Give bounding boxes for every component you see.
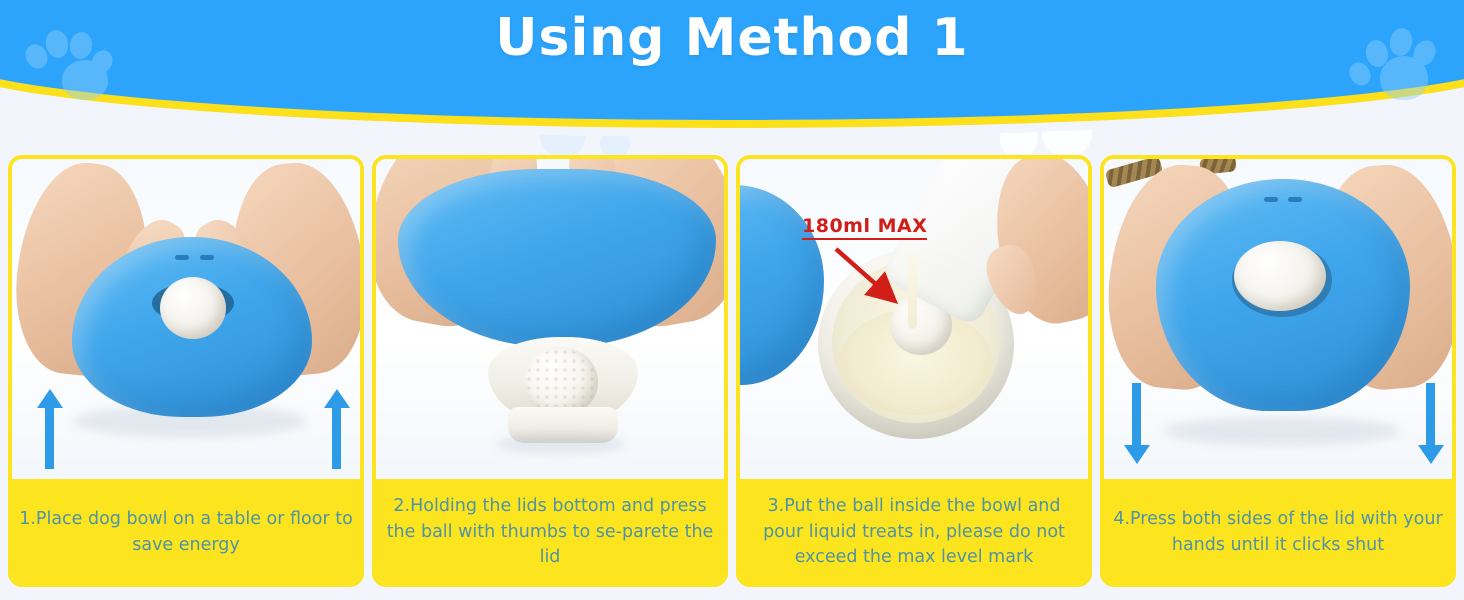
up-arrow-right xyxy=(332,407,341,469)
step-card-4: 4.Press both sides of the lid with your … xyxy=(1100,155,1456,587)
page-title: Using Method 1 xyxy=(0,8,1464,68)
down-arrow-left xyxy=(1132,383,1141,445)
white-ball xyxy=(160,277,226,339)
step-card-2: 2.Holding the lids bottom and press the … xyxy=(372,155,728,587)
step-caption-4: 4.Press both sides of the lid with your … xyxy=(1104,479,1452,583)
white-ball xyxy=(1234,241,1326,311)
steps-row: 1.Place dog bowl on a table or floor to … xyxy=(8,155,1456,587)
bowl-shadow xyxy=(1164,417,1400,445)
step-caption-3: 3.Put the ball inside the bowl and pour … xyxy=(740,479,1088,583)
vent-slot xyxy=(1264,197,1278,202)
down-arrow-left-head xyxy=(1124,445,1150,464)
step-photo-1 xyxy=(12,159,360,479)
down-arrow-right-head xyxy=(1418,445,1444,464)
vent-slot xyxy=(175,255,189,260)
base-shadow xyxy=(496,435,626,453)
max-level-annotation: 180ml MAX xyxy=(802,215,927,240)
step-card-1: 1.Place dog bowl on a table or floor to … xyxy=(8,155,364,587)
step-caption-2: 2.Holding the lids bottom and press the … xyxy=(376,479,724,583)
vent-slot xyxy=(1288,197,1302,202)
step-photo-4 xyxy=(1104,159,1452,479)
ball-texture xyxy=(526,349,596,415)
up-arrow-left xyxy=(45,407,54,469)
vent-slot xyxy=(200,255,214,260)
promo-banner: Using Method 1 xyxy=(0,0,1464,600)
step-caption-1: 1.Place dog bowl on a table or floor to … xyxy=(12,479,360,583)
down-arrow-right xyxy=(1426,383,1435,445)
step-card-3: 180ml MAX 3.Put the ball inside the bowl… xyxy=(736,155,1092,587)
red-arrow-icon xyxy=(828,243,918,321)
step-photo-2 xyxy=(376,159,724,479)
step-photo-3: 180ml MAX xyxy=(740,159,1088,479)
up-arrow-right-head xyxy=(324,389,350,408)
up-arrow-left-head xyxy=(37,389,63,408)
